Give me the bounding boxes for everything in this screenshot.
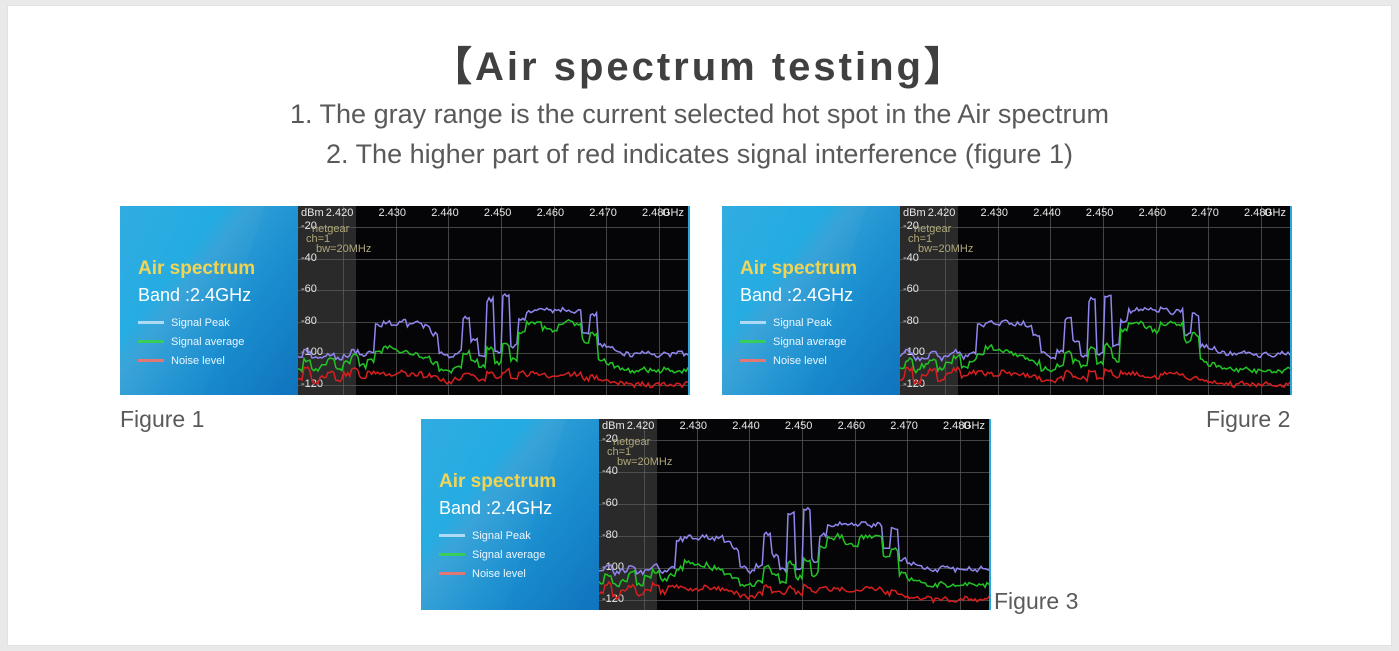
sidebar-band-label: Band :2.4GHz bbox=[138, 285, 251, 306]
figure-caption-2: Figure 2 bbox=[1206, 406, 1290, 433]
spectrum-panel-1: Air spectrumBand :2.4GHzSignal PeakSigna… bbox=[120, 206, 690, 395]
legend-label: Noise level bbox=[465, 568, 526, 580]
spectrum-chart: dBmGHz2.4202.4302.4402.4502.4602.4702.48… bbox=[599, 419, 991, 610]
legend-label: Signal Peak bbox=[766, 317, 832, 329]
sidebar-band-label: Band :2.4GHz bbox=[439, 498, 552, 519]
trace-signal-average bbox=[298, 320, 688, 373]
panel-sidebar: Air spectrumBand :2.4GHzSignal PeakSigna… bbox=[421, 419, 599, 610]
bullet-list: 1. The gray range is the current selecte… bbox=[8, 94, 1391, 174]
sidebar-title: Air spectrum bbox=[740, 258, 857, 280]
spectrum-traces bbox=[900, 206, 1290, 395]
legend-swatch-icon bbox=[740, 321, 766, 324]
legend-label: Signal average bbox=[164, 336, 244, 348]
legend-label: Noise level bbox=[164, 355, 225, 367]
trace-noise-level bbox=[900, 367, 1290, 387]
legend-item: Signal average bbox=[740, 332, 846, 351]
panel-sidebar: Air spectrumBand :2.4GHzSignal PeakSigna… bbox=[722, 206, 900, 395]
sidebar-band-label: Band :2.4GHz bbox=[740, 285, 853, 306]
legend-label: Signal Peak bbox=[465, 530, 531, 542]
spectrum-chart: dBmGHz2.4202.4302.4402.4502.4602.4702.48… bbox=[900, 206, 1292, 395]
legend-swatch-icon bbox=[439, 572, 465, 575]
legend-label: Signal average bbox=[766, 336, 846, 348]
legend-swatch-icon bbox=[439, 534, 465, 537]
legend: Signal PeakSignal averageNoise level bbox=[740, 313, 846, 370]
spectrum-panel-2: Air spectrumBand :2.4GHzSignal PeakSigna… bbox=[722, 206, 1292, 395]
legend-swatch-icon bbox=[439, 553, 465, 556]
legend-swatch-icon bbox=[138, 340, 164, 343]
panel-sidebar: Air spectrumBand :2.4GHzSignal PeakSigna… bbox=[120, 206, 298, 395]
trace-signal-average bbox=[900, 321, 1290, 373]
trace-signal-average bbox=[599, 534, 989, 588]
legend: Signal PeakSignal averageNoise level bbox=[439, 526, 545, 583]
figure-caption-1: Figure 1 bbox=[120, 406, 204, 433]
legend-swatch-icon bbox=[138, 321, 164, 324]
sidebar-title: Air spectrum bbox=[439, 471, 556, 493]
bullet-item: 1. The gray range is the current selecte… bbox=[8, 94, 1391, 134]
legend-label: Signal average bbox=[465, 549, 545, 561]
legend-item: Signal Peak bbox=[740, 313, 846, 332]
legend-item: Signal Peak bbox=[138, 313, 244, 332]
trace-noise-level bbox=[599, 582, 989, 602]
bullet-item: 2. The higher part of red indicates sign… bbox=[8, 134, 1391, 174]
spectrum-traces bbox=[599, 419, 989, 610]
sidebar-title: Air spectrum bbox=[138, 258, 255, 280]
spectrum-panel-3: Air spectrumBand :2.4GHzSignal PeakSigna… bbox=[421, 419, 991, 610]
spectrum-traces bbox=[298, 206, 688, 395]
legend-label: Signal Peak bbox=[164, 317, 230, 329]
page-title: 【Air spectrum testing】 bbox=[8, 34, 1391, 92]
legend-item: Noise level bbox=[439, 564, 545, 583]
legend-swatch-icon bbox=[138, 359, 164, 362]
legend: Signal PeakSignal averageNoise level bbox=[138, 313, 244, 370]
legend-label: Noise level bbox=[766, 355, 827, 367]
figure-caption-3: Figure 3 bbox=[994, 588, 1078, 615]
legend-swatch-icon bbox=[740, 359, 766, 362]
slide-page: 【Air spectrum testing】 1. The gray range… bbox=[8, 6, 1391, 645]
legend-item: Signal average bbox=[138, 332, 244, 351]
legend-item: Signal Peak bbox=[439, 526, 545, 545]
spectrum-chart: dBmGHz2.4202.4302.4402.4502.4602.4702.48… bbox=[298, 206, 690, 395]
legend-swatch-icon bbox=[740, 340, 766, 343]
legend-item: Noise level bbox=[740, 351, 846, 370]
legend-item: Signal average bbox=[439, 545, 545, 564]
legend-item: Noise level bbox=[138, 351, 244, 370]
